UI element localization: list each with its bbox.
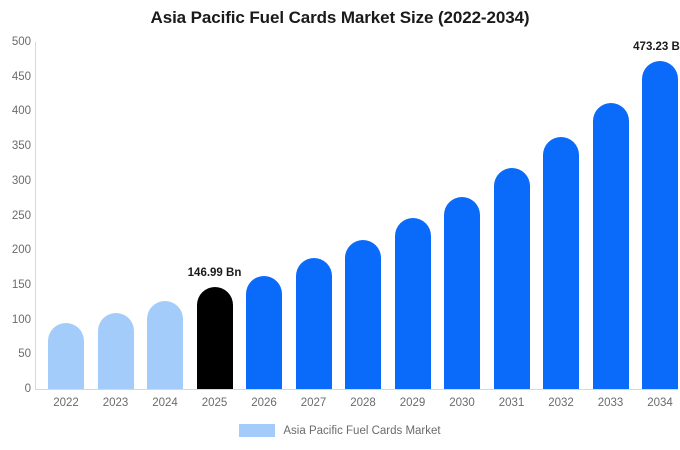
y-axis-tick-250: 250 — [3, 210, 31, 222]
y-axis-tick-200: 200 — [3, 244, 31, 256]
bar-2032[interactable] — [543, 137, 579, 389]
bar-slot — [494, 42, 530, 389]
x-axis-line — [35, 389, 678, 390]
bar-slot — [246, 42, 282, 389]
x-axis-tick-2030: 2030 — [444, 397, 480, 409]
bar-slot: 146.99 Bn — [197, 42, 233, 389]
chart-legend: Asia Pacific Fuel Cards Market — [0, 424, 680, 437]
y-axis-tick-400: 400 — [3, 105, 31, 117]
y-axis-tick-100: 100 — [3, 314, 31, 326]
chart-title: Asia Pacific Fuel Cards Market Size (202… — [0, 8, 680, 28]
x-axis-tick-2031: 2031 — [494, 397, 530, 409]
legend-label: Asia Pacific Fuel Cards Market — [283, 425, 440, 437]
bar-slot: 473.23 Bn — [642, 42, 678, 389]
y-axis: 050100150200250300350400450500 — [0, 0, 31, 450]
bar-slot — [395, 42, 431, 389]
legend-swatch-icon — [239, 424, 275, 437]
x-axis-tick-2029: 2029 — [395, 397, 431, 409]
bar-value-label-2034: 473.23 Bn — [633, 41, 680, 53]
x-axis-tick-2026: 2026 — [246, 397, 282, 409]
y-axis-tick-450: 450 — [3, 71, 31, 83]
bar-2027[interactable] — [296, 258, 332, 389]
bar-slot — [98, 42, 134, 389]
bar-slot — [296, 42, 332, 389]
legend-item[interactable]: Asia Pacific Fuel Cards Market — [239, 424, 440, 437]
bar-2023[interactable] — [98, 313, 134, 389]
bar-2024[interactable] — [147, 301, 183, 389]
bar-slot — [593, 42, 629, 389]
bar-slot — [444, 42, 480, 389]
x-axis-tick-2032: 2032 — [543, 397, 579, 409]
x-axis-tick-2028: 2028 — [345, 397, 381, 409]
bar-slot — [345, 42, 381, 389]
bar-2022[interactable] — [48, 323, 84, 389]
bar-2028[interactable] — [345, 240, 381, 389]
bar-2030[interactable] — [444, 197, 480, 389]
bar-2034[interactable] — [642, 61, 678, 389]
bar-2025[interactable] — [197, 287, 233, 389]
x-axis-tick-2033: 2033 — [593, 397, 629, 409]
x-axis-tick-2023: 2023 — [98, 397, 134, 409]
y-axis-tick-300: 300 — [3, 175, 31, 187]
y-axis-tick-150: 150 — [3, 279, 31, 291]
y-axis-tick-500: 500 — [3, 36, 31, 48]
x-axis-tick-2027: 2027 — [296, 397, 332, 409]
y-axis-tick-0: 0 — [3, 383, 31, 395]
bar-chart: Asia Pacific Fuel Cards Market Size (202… — [0, 0, 680, 450]
bar-2029[interactable] — [395, 218, 431, 389]
x-axis-tick-2022: 2022 — [48, 397, 84, 409]
bar-2031[interactable] — [494, 168, 530, 389]
x-axis-tick-2024: 2024 — [147, 397, 183, 409]
bar-2026[interactable] — [246, 276, 282, 389]
y-axis-tick-350: 350 — [3, 140, 31, 152]
bar-value-label-2025: 146.99 Bn — [188, 267, 242, 279]
bar-2033[interactable] — [593, 103, 629, 389]
x-axis-tick-2025: 2025 — [197, 397, 233, 409]
plot-area: 146.99 Bn473.23 Bn — [35, 42, 678, 389]
y-axis-tick-50: 50 — [3, 348, 31, 360]
bar-slot — [48, 42, 84, 389]
bar-slot — [543, 42, 579, 389]
bar-slot — [147, 42, 183, 389]
x-axis-tick-2034: 2034 — [642, 397, 678, 409]
